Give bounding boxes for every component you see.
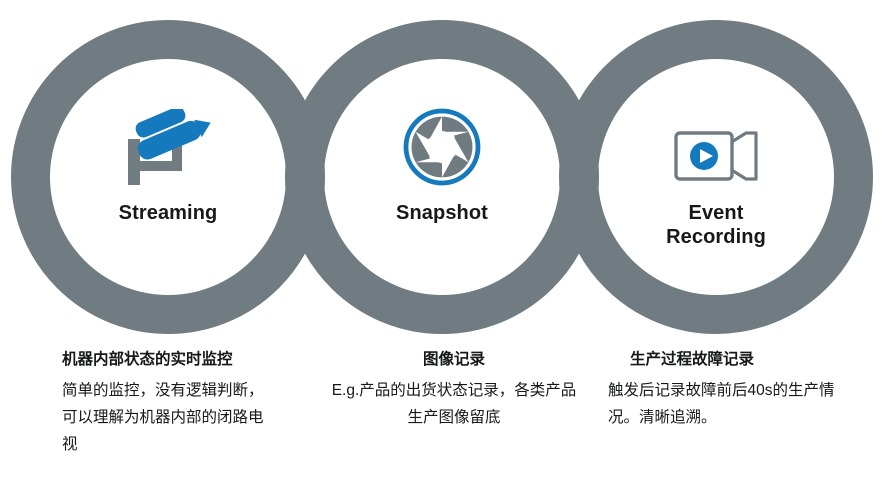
node-label-event-recording: Event Recording bbox=[606, 201, 826, 250]
caption-title-snapshot: 图像记录 bbox=[330, 348, 578, 371]
node-label-event-line2: Recording bbox=[666, 226, 766, 248]
caption-snapshot: 图像记录 E.g.产品的出货状态记录，各类产品生产图像留底 bbox=[330, 348, 578, 432]
captions-row: 机器内部状态的实时监控 简单的监控，没有逻辑判断，可以理解为机器内部的闭路电视 … bbox=[0, 348, 885, 498]
node-streaming[interactable]: Streaming bbox=[58, 95, 278, 225]
cctv-camera-icon bbox=[58, 95, 278, 187]
node-event-recording[interactable]: Event Recording bbox=[606, 95, 826, 250]
caption-body-snapshot: E.g.产品的出货状态记录，各类产品生产图像留底 bbox=[330, 378, 578, 431]
node-label-event-line1: Event bbox=[689, 202, 744, 224]
node-label-streaming: Streaming bbox=[58, 201, 278, 225]
caption-event-recording: 生产过程故障记录 触发后记录故障前后40s的生产情况。清晰追溯。 bbox=[608, 348, 856, 432]
caption-body-streaming: 简单的监控，没有逻辑判断，可以理解为机器内部的闭路电视 bbox=[62, 378, 267, 458]
diagram-canvas: Streaming bbox=[0, 0, 885, 498]
caption-body-event-recording: 触发后记录故障前后40s的生产情况。清晰追溯。 bbox=[608, 378, 840, 431]
caption-title-event-recording: 生产过程故障记录 bbox=[608, 348, 856, 371]
camera-aperture-icon bbox=[332, 95, 552, 187]
node-label-snapshot: Snapshot bbox=[332, 201, 552, 225]
caption-streaming: 机器内部状态的实时监控 简单的监控，没有逻辑判断，可以理解为机器内部的闭路电视 bbox=[62, 348, 310, 458]
node-snapshot[interactable]: Snapshot bbox=[332, 95, 552, 225]
caption-title-streaming: 机器内部状态的实时监控 bbox=[62, 348, 310, 371]
video-camera-play-icon bbox=[606, 95, 826, 187]
